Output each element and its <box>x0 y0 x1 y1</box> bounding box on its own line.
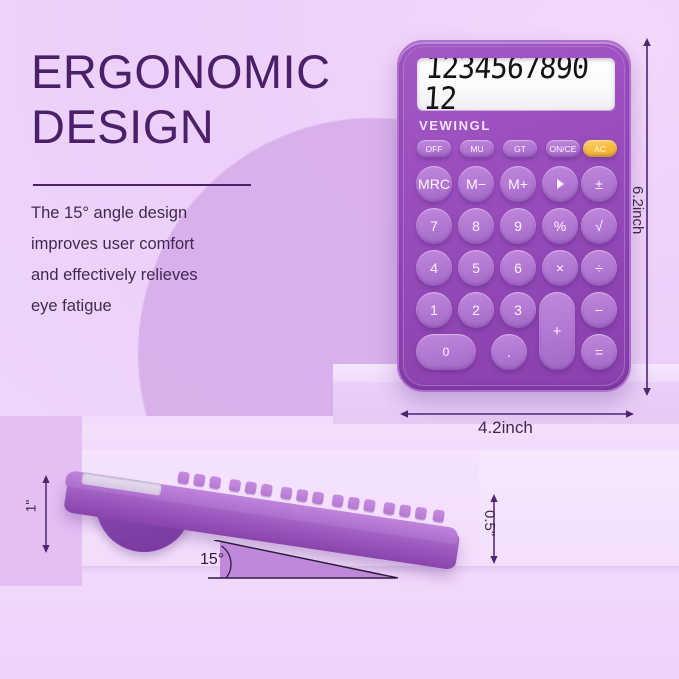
key-0[interactable]: 0 <box>416 334 476 370</box>
side-key <box>229 479 242 492</box>
lower-platform-right <box>479 452 679 570</box>
brand-logo: VEWINGL <box>419 118 491 133</box>
side-key <box>280 486 293 499</box>
angle-label: 15° <box>200 551 224 569</box>
keypad: OFF MU GT ON/CE AC MRC M− M+ ± 7 8 9 % √… <box>411 140 621 380</box>
key-7[interactable]: 7 <box>416 208 452 244</box>
play-icon[interactable] <box>542 166 578 202</box>
key-equals[interactable]: = <box>581 334 617 370</box>
key-9[interactable]: 9 <box>500 208 536 244</box>
right-thickness-label: 0.5" <box>481 510 498 536</box>
page-title: ERGONOMIC DESIGN <box>31 44 371 154</box>
side-key <box>177 471 190 484</box>
pedestal-lower-ledge <box>82 424 679 450</box>
key-off[interactable]: OFF <box>417 140 451 157</box>
key-1[interactable]: 1 <box>416 292 452 328</box>
left-thickness-label: 1" <box>22 500 38 513</box>
side-key <box>363 499 376 512</box>
key-percent[interactable]: % <box>542 208 578 244</box>
key-mrc[interactable]: MRC <box>416 166 452 202</box>
description-line-3: and effectively relieves <box>31 260 321 291</box>
title-divider <box>33 184 251 186</box>
side-key <box>312 491 325 504</box>
side-key <box>209 476 222 489</box>
key-gt[interactable]: GT <box>503 140 537 157</box>
side-key <box>193 473 206 486</box>
description-text: The 15° angle design improves user comfo… <box>31 198 321 322</box>
key-4[interactable]: 4 <box>416 250 452 286</box>
angle-indicator <box>196 540 406 584</box>
height-dimension-label: 6.2inch <box>629 186 646 234</box>
key-8[interactable]: 8 <box>458 208 494 244</box>
key-6[interactable]: 6 <box>500 250 536 286</box>
side-key <box>399 504 412 517</box>
description-line-4: eye fatigue <box>31 291 321 322</box>
left-thickness-dimension-line <box>38 474 54 554</box>
side-key <box>331 494 344 507</box>
key-memory-minus[interactable]: M− <box>458 166 494 202</box>
side-key <box>347 496 360 509</box>
key-subtract[interactable]: − <box>581 292 617 328</box>
key-add[interactable]: + <box>539 292 575 370</box>
calculator-front-view: 1234567890 12 VEWINGL OFF MU GT ON/CE AC… <box>397 40 631 392</box>
key-5[interactable]: 5 <box>458 250 494 286</box>
side-key <box>432 509 445 522</box>
key-mu[interactable]: MU <box>460 140 494 157</box>
display-digits: 1234567890 12 <box>423 58 602 110</box>
description-line-1: The 15° angle design <box>31 198 321 229</box>
headline-line-1: ERGONOMIC <box>31 45 331 98</box>
key-sign-toggle[interactable]: ± <box>581 166 617 202</box>
key-3[interactable]: 3 <box>500 292 536 328</box>
key-on-ce[interactable]: ON/CE <box>546 140 580 157</box>
key-2[interactable]: 2 <box>458 292 494 328</box>
side-key <box>415 507 428 520</box>
calculator-display: 1234567890 12 <box>417 58 615 110</box>
key-decimal[interactable]: . <box>491 334 527 370</box>
side-key <box>296 489 309 502</box>
side-key <box>383 502 396 515</box>
side-key <box>260 483 273 496</box>
width-dimension-label: 4.2inch <box>478 418 533 438</box>
play-triangle <box>557 179 564 189</box>
key-ac[interactable]: AC <box>583 140 617 157</box>
side-key <box>244 481 257 494</box>
key-sqrt[interactable]: √ <box>581 208 617 244</box>
headline-line-2: DESIGN <box>31 99 371 154</box>
key-multiply[interactable]: × <box>542 250 578 286</box>
infographic-canvas: ERGONOMIC DESIGN The 15° angle design im… <box>0 0 679 679</box>
key-memory-plus[interactable]: M+ <box>500 166 536 202</box>
key-divide[interactable]: ÷ <box>581 250 617 286</box>
description-line-2: improves user comfort <box>31 229 321 260</box>
